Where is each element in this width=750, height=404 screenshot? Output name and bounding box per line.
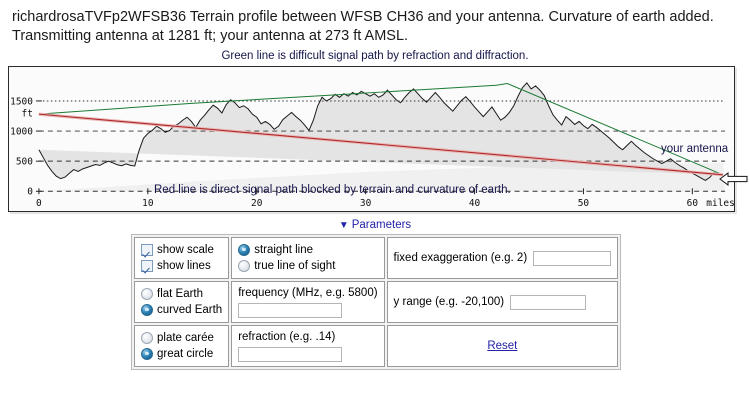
- radio-icon[interactable]: [238, 244, 250, 256]
- page-root: richardrosaTVFp2WFSB36 Terrain profile b…: [0, 0, 750, 404]
- parameters-label[interactable]: Parameters: [352, 219, 411, 231]
- y-range-field-group: y range (e.g. -20,100): [394, 295, 612, 310]
- radio-icon[interactable]: [141, 348, 153, 360]
- svg-text:0: 0: [27, 187, 33, 198]
- green-line-caption: Green line is difficult signal path by r…: [0, 50, 750, 62]
- chevron-down-icon: ▼: [339, 220, 349, 231]
- radio-plate-caree-label: plate carée: [157, 330, 214, 346]
- radio-icon[interactable]: [141, 304, 153, 316]
- line-mode-cell: straight line true line of sight: [231, 237, 384, 279]
- left-arrow-icon: [719, 171, 749, 187]
- parameters-table: show scale show lines straight line true: [131, 234, 621, 370]
- checkbox-show-lines[interactable]: show lines: [141, 258, 222, 274]
- svg-text:60: 60: [687, 198, 699, 209]
- checkbox-show-scale-label: show scale: [157, 242, 214, 258]
- reset-button[interactable]: Reset: [487, 340, 517, 352]
- radio-icon[interactable]: [141, 332, 153, 344]
- radio-curved-earth-label: curved Earth: [157, 302, 222, 318]
- radio-curved-earth[interactable]: curved Earth: [141, 302, 222, 318]
- table-row: show scale show lines straight line true: [134, 237, 618, 279]
- projection-cell: plate carée great circle: [134, 325, 229, 367]
- radio-flat-earth[interactable]: flat Earth: [141, 286, 222, 302]
- terrain-profile-chart: 0102030405060miles050010001500ft Red lin…: [8, 66, 735, 212]
- parameters-header[interactable]: ▼Parameters: [0, 219, 750, 231]
- svg-text:1500: 1500: [10, 96, 33, 107]
- checkbox-icon[interactable]: [141, 260, 153, 272]
- checkbox-show-scale[interactable]: show scale: [141, 242, 222, 258]
- y-range-cell: y range (e.g. -20,100): [387, 281, 619, 323]
- refraction-label: refraction (e.g. .14): [238, 331, 335, 343]
- svg-text:50: 50: [578, 198, 590, 209]
- refraction-cell: refraction (e.g. .14): [231, 325, 384, 367]
- refraction-field-group: refraction (e.g. .14): [238, 330, 377, 362]
- exaggeration-cell: fixed exaggeration (e.g. 2): [387, 237, 619, 279]
- radio-straight-line[interactable]: straight line: [238, 242, 377, 258]
- y-range-label: y range (e.g. -20,100): [394, 296, 505, 308]
- radio-icon[interactable]: [141, 288, 153, 300]
- exaggeration-input[interactable]: [533, 251, 611, 266]
- exaggeration-label: fixed exaggeration (e.g. 2): [394, 252, 528, 264]
- svg-text:20: 20: [251, 198, 263, 209]
- svg-text:30: 30: [360, 198, 372, 209]
- radio-icon[interactable]: [238, 260, 250, 272]
- frequency-cell: frequency (MHz, e.g. 5800): [231, 281, 384, 323]
- svg-text:miles: miles: [706, 198, 734, 209]
- svg-text:40: 40: [469, 198, 481, 209]
- red-line-annotation: Red line is direct signal path blocked b…: [154, 184, 511, 196]
- radio-plate-caree[interactable]: plate carée: [141, 330, 222, 346]
- page-title: richardrosaTVFp2WFSB36 Terrain profile b…: [12, 8, 738, 46]
- reset-cell: Reset: [387, 325, 619, 367]
- y-range-input[interactable]: [510, 295, 586, 310]
- radio-true-line-of-sight-label: true line of sight: [254, 258, 335, 274]
- checkbox-show-lines-label: show lines: [157, 258, 211, 274]
- table-row: flat Earth curved Earth frequency (MHz, …: [134, 281, 618, 323]
- svg-text:0: 0: [36, 198, 42, 209]
- exaggeration-field-group: fixed exaggeration (e.g. 2): [394, 251, 612, 266]
- svg-text:1000: 1000: [10, 127, 33, 138]
- frequency-label: frequency (MHz, e.g. 5800): [238, 287, 377, 299]
- svg-text:ft: ft: [22, 109, 33, 120]
- display-options-cell: show scale show lines: [134, 237, 229, 279]
- radio-great-circle[interactable]: great circle: [141, 346, 222, 362]
- svg-text:10: 10: [142, 198, 154, 209]
- radio-true-line-of-sight[interactable]: true line of sight: [238, 258, 377, 274]
- frequency-field-group: frequency (MHz, e.g. 5800): [238, 286, 377, 318]
- checkbox-icon[interactable]: [141, 244, 153, 256]
- svg-text:500: 500: [16, 157, 33, 168]
- earth-shape-cell: flat Earth curved Earth: [134, 281, 229, 323]
- refraction-input[interactable]: [238, 347, 342, 362]
- your-antenna-label: your antenna: [661, 143, 728, 155]
- frequency-input[interactable]: [238, 303, 342, 318]
- table-row: plate carée great circle refraction (e.g…: [134, 325, 618, 367]
- radio-flat-earth-label: flat Earth: [157, 286, 203, 302]
- radio-great-circle-label: great circle: [157, 346, 213, 362]
- radio-straight-line-label: straight line: [254, 242, 313, 258]
